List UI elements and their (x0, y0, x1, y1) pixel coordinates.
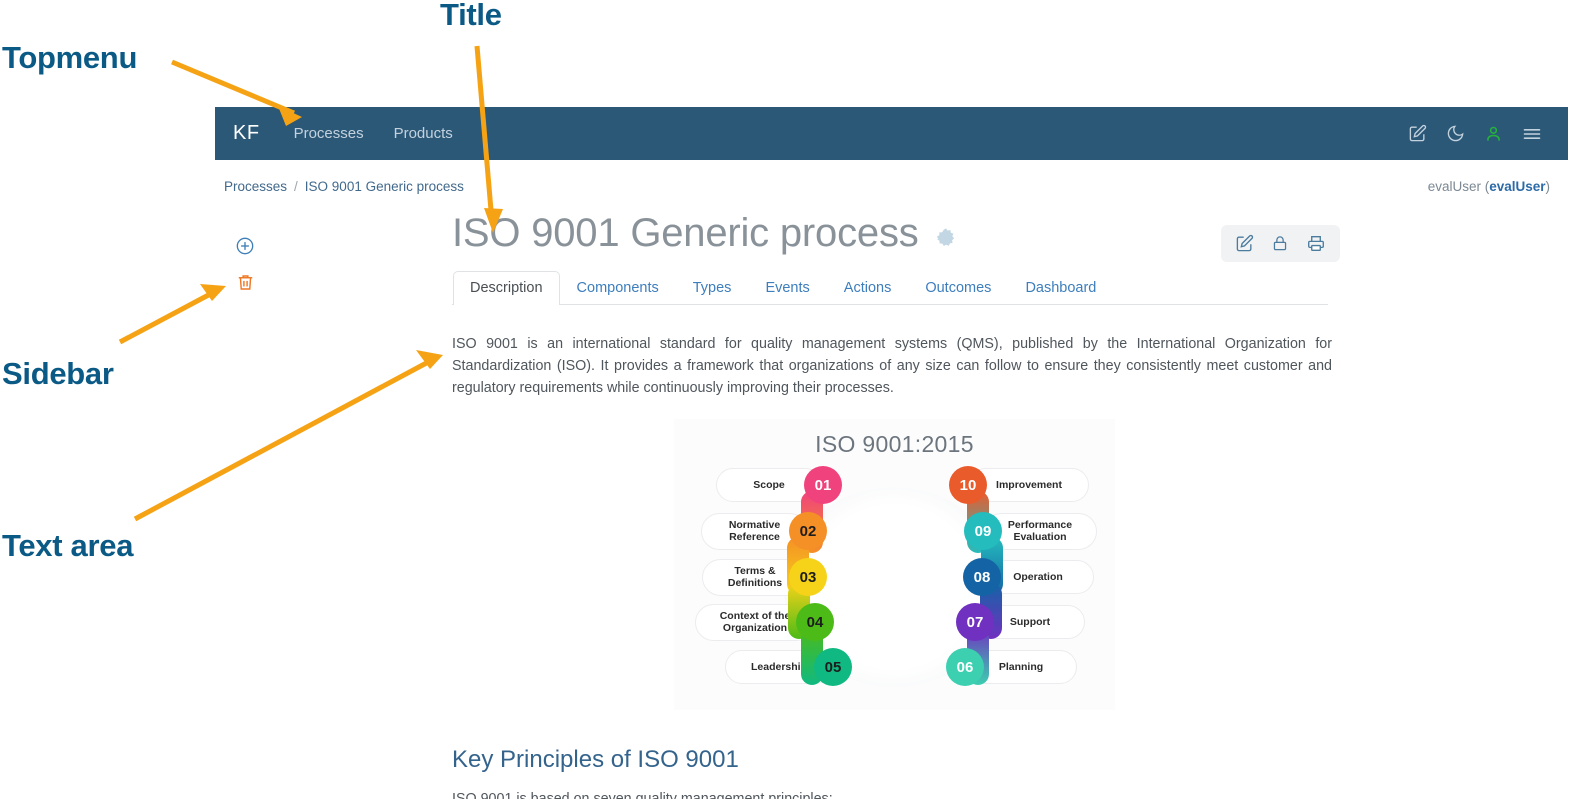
sidebar (215, 212, 275, 799)
diagram-number-03: 03 (789, 558, 827, 596)
page-title: ISO 9001 Generic process (452, 212, 919, 254)
diagram-node-08: 08 Operation (963, 558, 1094, 596)
hamburger-menu-icon[interactable] (1522, 124, 1542, 144)
diagram-number-10: 10 (949, 466, 987, 504)
user-account-icon[interactable] (1484, 124, 1503, 143)
edit-page-button[interactable] (1235, 234, 1254, 253)
user-prefix: evalUser ( (1428, 179, 1490, 194)
breadcrumb-parent[interactable]: Processes (224, 179, 287, 194)
main-content: ISO 9001 Generic process (275, 212, 1568, 799)
user-info: evalUser (evalUser) (1428, 179, 1550, 194)
tab-dashboard[interactable]: Dashboard (1008, 271, 1113, 305)
diagram-number-07: 07 (956, 603, 994, 641)
annotation-topmenu: Topmenu (2, 40, 137, 76)
description-paragraph: ISO 9001 is an international standard fo… (452, 333, 1332, 399)
tab-outcomes[interactable]: Outcomes (908, 271, 1008, 305)
breadcrumb-current: ISO 9001 Generic process (305, 179, 464, 194)
diagram-node-10: 10 Improvement (949, 466, 1089, 504)
tab-events[interactable]: Events (748, 271, 826, 305)
tab-description[interactable]: Description (453, 271, 560, 305)
nav-links: Processes Products (294, 125, 453, 142)
diagram-node-07: 07 Support (956, 603, 1085, 641)
delete-trash-icon[interactable] (236, 273, 255, 292)
tab-types[interactable]: Types (676, 271, 749, 305)
edit-icon[interactable] (1408, 124, 1427, 143)
tab-bar: Description Components Types Events Acti… (452, 271, 1328, 305)
iso-9001-diagram: ISO 9001:2015 Scope 01 (674, 419, 1115, 710)
diagram-title: ISO 9001:2015 (674, 419, 1115, 458)
add-circle-icon[interactable] (235, 236, 255, 256)
user-suffix: ) (1546, 179, 1551, 194)
user-name[interactable]: evalUser (1489, 179, 1545, 194)
nav-right-icons (1408, 124, 1550, 144)
section-paragraph: ISO 9001 is based on seven quality manag… (452, 788, 1332, 799)
diagram-node-01: Scope 01 (716, 466, 842, 504)
screenshot-root: KF Processes Products (0, 0, 1590, 799)
nav-link-products[interactable]: Products (394, 125, 453, 142)
annotation-sidebar: Sidebar (2, 356, 114, 392)
lock-page-button[interactable] (1271, 234, 1289, 253)
diagram-number-08: 08 (963, 558, 1001, 596)
print-page-button[interactable] (1306, 234, 1326, 253)
annotation-title: Title (440, 0, 502, 33)
diagram-number-06: 06 (946, 648, 984, 686)
brand-logo[interactable]: KF (225, 122, 260, 145)
diagram-node-03: Terms & Definitions 03 (702, 558, 827, 596)
diagram-number-09: 09 (964, 512, 1002, 550)
dark-mode-moon-icon[interactable] (1446, 124, 1465, 143)
section-heading: Key Principles of ISO 9001 (452, 746, 1562, 774)
breadcrumb-separator: / (294, 179, 298, 194)
diagram-number-04: 04 (796, 603, 834, 641)
diagram-number-02: 02 (789, 512, 827, 550)
nav-link-processes[interactable]: Processes (294, 125, 364, 142)
top-navigation-bar: KF Processes Products (215, 107, 1568, 160)
diagram-number-01: 01 (804, 466, 842, 504)
diagram-number-05: 05 (814, 648, 852, 686)
diagram-node-06: 06 Planning (946, 648, 1077, 686)
diagram-node-05: Leadership 05 (725, 648, 852, 686)
annotation-textarea: Text area (2, 528, 133, 564)
settings-gear-icon[interactable] (933, 226, 959, 252)
application-window: KF Processes Products (215, 107, 1568, 799)
tab-components[interactable]: Components (560, 271, 676, 305)
diagram-node-09: 09 Performance Evaluation (964, 512, 1097, 550)
title-row: ISO 9001 Generic process (452, 212, 1562, 254)
breadcrumb-row: Processes / ISO 9001 Generic process eva… (215, 160, 1568, 212)
page-body: ISO 9001 Generic process (215, 212, 1568, 799)
page-action-panel (1221, 225, 1340, 262)
tab-actions[interactable]: Actions (827, 271, 909, 305)
diagram-node-02: Normative Reference 02 (701, 512, 827, 550)
diagram-node-04: Context of the Organization 04 (695, 603, 834, 641)
